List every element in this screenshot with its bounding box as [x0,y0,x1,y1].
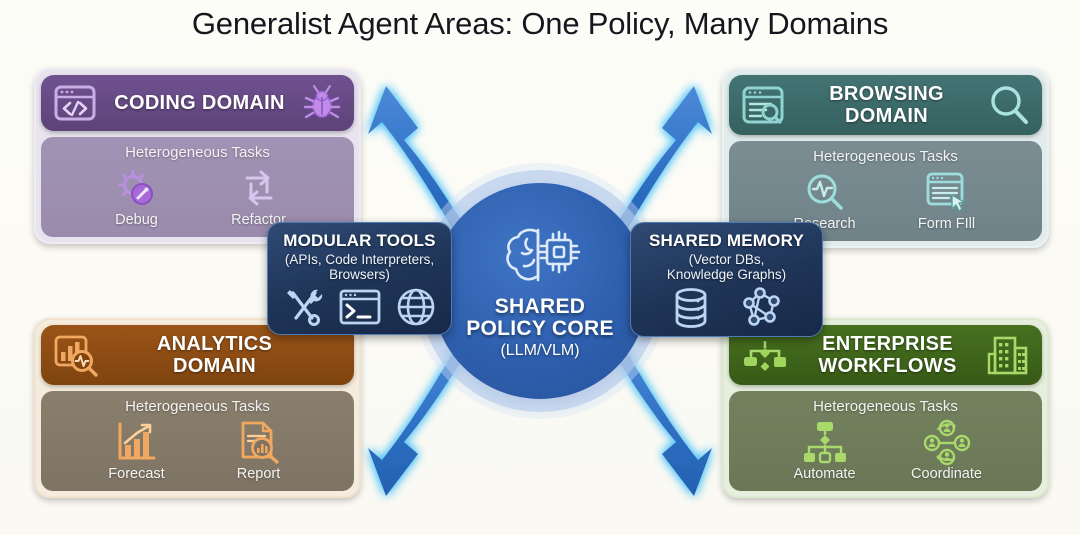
domain-panel-enterprise[interactable]: ENTERPRISE WORKFLOWS [722,318,1049,498]
core-subtitle: (LLM/VLM) [500,342,579,360]
magnifier-icon [988,84,1030,126]
task-item[interactable]: Report [216,419,302,482]
domain-panel-browsing[interactable]: BROWSING DOMAIN Heterogeneous Tasks [722,68,1049,248]
shared-policy-core[interactable]: SHARED POLICY CORE (LLM/VLM) [432,183,648,399]
task-list: Debug Refactor [51,165,344,228]
domain-header-coding: CODING DOMAIN [41,75,354,131]
task-list: Forecast [51,419,344,482]
bar-chart-trend-icon [115,419,159,465]
task-item[interactable]: Coordinate [904,419,990,482]
pulse-magnifier-icon [803,169,847,215]
body-caption: Heterogeneous Tasks [739,398,1032,415]
domain-header-browsing: BROWSING DOMAIN [729,75,1042,135]
domain-panel-coding[interactable]: CODING DOMAIN Heterogeneous Tasks [34,68,361,244]
body-caption: Heterogeneous Tasks [739,148,1032,165]
database-icon [672,287,710,329]
capability-title: SHARED MEMORY [642,231,811,251]
terminal-icon [338,288,382,326]
task-item[interactable]: Refactor [216,165,302,228]
diagram-canvas: Generalist Agent Areas: One Policy, Many… [0,0,1080,535]
capability-card-modular-tools[interactable]: MODULAR TOOLS (APIs, Code Interpreters, … [267,222,452,335]
people-cycle-icon [923,419,971,465]
globe-icon [396,287,436,327]
code-window-icon [53,83,97,123]
task-label: Form FIll [918,216,975,232]
task-list: Automate [739,419,1032,482]
domain-panel-analytics[interactable]: ANALYTICS DOMAIN Heterogeneous Tasks [34,318,361,498]
task-item[interactable]: Forecast [94,419,180,482]
task-label: Coordinate [911,466,982,482]
task-item[interactable]: Form FIll [904,169,990,232]
task-label: Automate [793,466,855,482]
task-label: Debug [115,212,158,228]
capability-subtitle: (APIs, Code Interpreters, Browsers) [279,252,440,282]
domain-title-analytics: ANALYTICS DOMAIN [107,333,322,377]
body-caption: Heterogeneous Tasks [51,398,344,415]
document-magnifier-icon [237,419,281,465]
task-item[interactable]: Debug [94,165,180,228]
task-label: Report [237,466,281,482]
tools-wrench-screwdriver-icon [284,287,324,327]
domain-title-coding: CODING DOMAIN [105,92,294,114]
task-label: Forecast [108,466,164,482]
domain-body-enterprise: Heterogeneous Tasks [729,391,1042,491]
page-title: Generalist Agent Areas: One Policy, Many… [0,6,1080,42]
capability-icons [279,287,440,327]
capability-title: MODULAR TOOLS [279,231,440,251]
browser-search-icon [741,84,785,126]
capability-subtitle: (Vector DBs, Knowledge Graphs) [642,252,811,282]
gear-magnifier-icon [114,165,160,211]
core-title: SHARED POLICY CORE [466,296,614,340]
task-item[interactable]: Automate [782,419,868,482]
office-building-icon [986,334,1030,376]
knowledge-graph-icon [736,287,782,329]
capability-card-shared-memory[interactable]: SHARED MEMORY (Vector DBs, Knowledge Gra… [630,222,823,337]
capability-icons [642,287,811,329]
chart-magnifier-icon [53,334,99,376]
domain-title-browsing: BROWSING DOMAIN [793,83,980,127]
body-caption: Heterogeneous Tasks [51,144,344,161]
bug-icon [302,83,342,123]
form-cursor-icon [925,169,969,215]
brain-chip-icon [497,222,583,294]
domain-title-enterprise: ENTERPRISE WORKFLOWS [797,333,978,377]
refactor-arrows-icon [237,165,281,211]
workflow-nodes-icon [741,335,789,375]
domain-body-analytics: Heterogeneous Tasks [41,391,354,491]
flowchart-icon [801,419,849,465]
